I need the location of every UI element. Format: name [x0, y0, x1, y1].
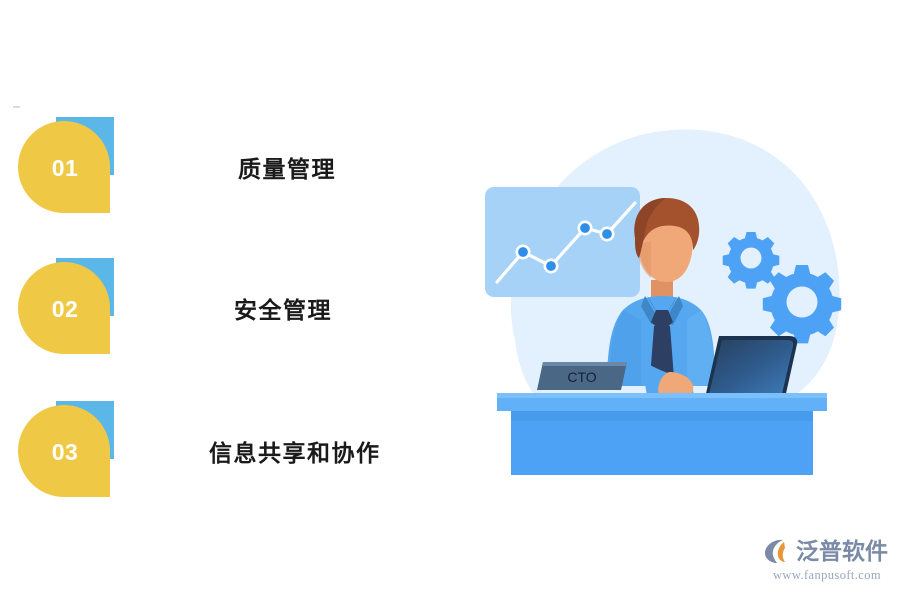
list-item-label: 安全管理 — [234, 291, 332, 325]
desk-nameplate: CTO — [537, 362, 627, 390]
brand-url: www.fanpusoft.com — [762, 568, 892, 583]
badge-number: 02 — [52, 298, 79, 321]
badge-number: 03 — [52, 441, 79, 464]
brand-logo: 泛普软件 www.fanpusoft.com — [762, 536, 892, 588]
badge-number: 01 — [52, 157, 79, 180]
list-item[interactable]: 03 信息共享和协作 — [0, 401, 470, 501]
desk — [497, 393, 827, 475]
list-item[interactable]: 02 安全管理 — [0, 258, 470, 358]
fanpu-logo-icon — [762, 536, 792, 566]
chart-board — [485, 187, 640, 297]
list-item[interactable]: 01 质量管理 — [0, 117, 470, 217]
gear-large-icon — [763, 265, 841, 343]
nameplate-text: CTO — [567, 369, 596, 385]
badge-leaf-shape: 03 — [18, 405, 110, 497]
stray-mark — [13, 106, 20, 108]
badge-01: 01 — [18, 117, 114, 213]
badge-leaf-shape: 01 — [18, 121, 110, 213]
list-item-label: 信息共享和协作 — [209, 434, 381, 468]
feature-list: 01 质量管理 02 安全管理 03 信息共享和协作 — [0, 0, 470, 600]
badge-02: 02 — [18, 258, 114, 354]
badge-03: 03 — [18, 401, 114, 497]
list-item-label: 质量管理 — [238, 150, 336, 184]
brand-name: 泛普软件 — [796, 540, 888, 563]
badge-leaf-shape: 02 — [18, 262, 110, 354]
laptop — [705, 336, 797, 398]
illustration-businessman-at-desk: CTO — [455, 110, 875, 480]
